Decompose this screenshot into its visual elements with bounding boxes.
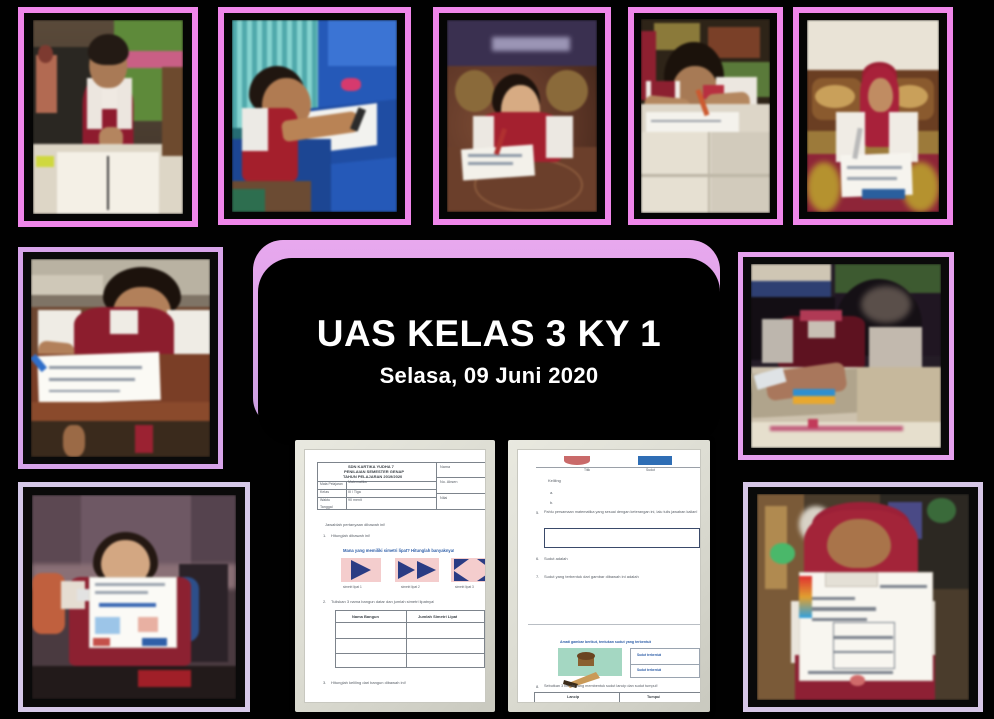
exam-page-2-content: Titik Sudut Keliling a. b. 5. Pahlu pers… — [526, 456, 692, 696]
exam-question-1-text: Hitunglah dibawah ini! — [331, 533, 370, 539]
exam-table-1-col-1: Nama Bangun — [352, 614, 379, 620]
exam2-figure-caption: Amati gambar berikut, tentukan sudut yan… — [560, 640, 651, 645]
exam2-top-shape-red — [564, 456, 590, 465]
exam2-question-6-no: 6. — [536, 556, 539, 562]
exam2-answer-table: Lancip Tumpul — [534, 692, 701, 703]
exam-answer-table-1: Nama Bangun Jumlah Simetri Lipat — [335, 610, 485, 668]
exam2-top-label-left: Titik — [584, 468, 590, 473]
exam2-question-7-text: Sudut yang terbentuk dari gambar dibawah… — [544, 574, 639, 580]
exam-field-time-value: 90 menit — [348, 498, 362, 503]
exam2-question-5-text: Pahlu persamaan matematika yang sesuai d… — [544, 510, 700, 516]
photo-frame-left-bottom — [18, 482, 250, 712]
exam-figure-label-3: simetri lipat 3 — [455, 585, 474, 590]
photo-frame-right-bottom — [743, 482, 983, 712]
exam2-top-rule — [536, 467, 701, 468]
photo-collage-canvas: UAS KELAS 3 KY 1 Selasa, 09 Juni 2020 SD… — [0, 0, 994, 719]
photo-image-top-5 — [807, 20, 939, 212]
exam-field-score-label: Nilai — [440, 496, 447, 502]
exam-figure-caption: Mana yang memiliki simetri lipat? Hitung… — [343, 548, 454, 554]
exam2-item-a: a. — [550, 490, 553, 496]
exam-field-absent-label: No. Absen — [440, 480, 458, 486]
photo-frame-top-2 — [218, 7, 411, 225]
exam-question-1-no: 1. — [323, 533, 326, 539]
exam-page-1-content: SDN KARTIKA YUDHA 7 PENILAIAN SEMESTER G… — [313, 456, 477, 696]
exam2-side-label-1: Sudut terbentuk — [637, 653, 661, 658]
exam-table-1-col-2: Jumlah Simetri Lipat — [418, 614, 457, 620]
exam2-item-b: b. — [550, 500, 553, 506]
exam2-figure-side-table: Sudut terbentuk Sudut terbentuk — [630, 648, 700, 678]
photo-frame-left-mid — [18, 247, 223, 469]
exam2-table-col-2: Tumpul — [647, 695, 660, 701]
exam-page-1: SDN KARTIKA YUDHA 7 PENILAIAN SEMESTER G… — [304, 449, 486, 703]
exam-question-2-text: Tuliskan 3 nama bangun datar dan jumlah … — [331, 599, 434, 605]
page-subtitle: Selasa, 09 Juni 2020 — [380, 363, 599, 389]
photo-frame-top-3 — [433, 7, 611, 225]
exam-question-2-no: 2. — [323, 599, 326, 605]
title-card: UAS KELAS 3 KY 1 Selasa, 09 Juni 2020 — [258, 258, 720, 445]
photo-image-right-bottom — [757, 494, 969, 700]
exam-page-2: Titik Sudut Keliling a. b. 5. Pahlu pers… — [517, 449, 701, 703]
exam2-table-col-1: Lancip — [567, 695, 579, 701]
photo-image-left-mid — [31, 259, 210, 457]
photo-image-top-3 — [447, 20, 597, 212]
exam-figure-1-shape — [349, 558, 375, 582]
exam2-top-shape-blue — [638, 456, 672, 465]
exam-header-table: SDN KARTIKA YUDHA 7 PENILAIAN SEMESTER G… — [317, 462, 486, 510]
exam2-question-5-no: 5. — [536, 510, 539, 516]
exam-instruction: Jawablah pertanyaan dibawah ini! — [325, 522, 385, 528]
exam2-answer-box — [544, 528, 700, 548]
photo-image-top-4 — [641, 19, 770, 213]
exam-field-date-label: Tanggal — [320, 505, 333, 510]
exam2-question-8-no: 8. — [536, 684, 539, 690]
exam2-fold-line — [528, 624, 701, 625]
photo-image-top-1 — [33, 20, 183, 214]
exam2-question-6-text: Sudut adalah — [544, 556, 568, 562]
exam-figure-label-1: simetri lipat 1 — [343, 585, 362, 590]
photo-image-right-mid — [751, 264, 941, 448]
exam2-question-7-no: 7. — [536, 574, 539, 580]
exam2-continued-label: Keliling — [548, 478, 561, 484]
exam-page-1-frame: SDN KARTIKA YUDHA 7 PENILAIAN SEMESTER G… — [295, 440, 495, 712]
exam-field-class-value: III / Tiga — [348, 490, 361, 495]
exam2-top-label-right: Sudut — [646, 468, 655, 473]
page-title: UAS KELAS 3 KY 1 — [317, 314, 662, 355]
exam2-question-8-text: Sebutkan 3 benda yang membentuk sudut la… — [544, 684, 658, 690]
exam-page-2-frame: Titik Sudut Keliling a. b. 5. Pahlu pers… — [508, 440, 710, 712]
photo-frame-top-5 — [793, 7, 953, 225]
photo-frame-right-mid — [738, 252, 954, 460]
exam-field-name-label: Nama — [440, 465, 450, 471]
exam-figure-3-shape — [453, 558, 486, 582]
photo-frame-top-4 — [628, 7, 783, 225]
exam-question-3-text: Hitunglah keliling dari bangun dibawah i… — [331, 680, 406, 686]
exam-field-subject-value: Matematika — [348, 480, 367, 485]
exam2-side-label-2: Sudut terbentuk — [637, 668, 661, 673]
exam-field-class-label: Kelas — [320, 490, 329, 495]
exam-figure-2-shape — [397, 558, 439, 582]
photo-frame-top-1 — [18, 7, 198, 227]
photo-image-top-2 — [232, 20, 397, 212]
exam-question-3-no: 3. — [323, 680, 326, 686]
exam-field-time-label: Waktu — [320, 498, 330, 503]
photo-image-left-bottom — [32, 495, 236, 699]
exam-field-subject-label: Mata Pelajaran — [320, 482, 346, 487]
exam-figure-label-2: simetri lipat 2 — [401, 585, 420, 590]
